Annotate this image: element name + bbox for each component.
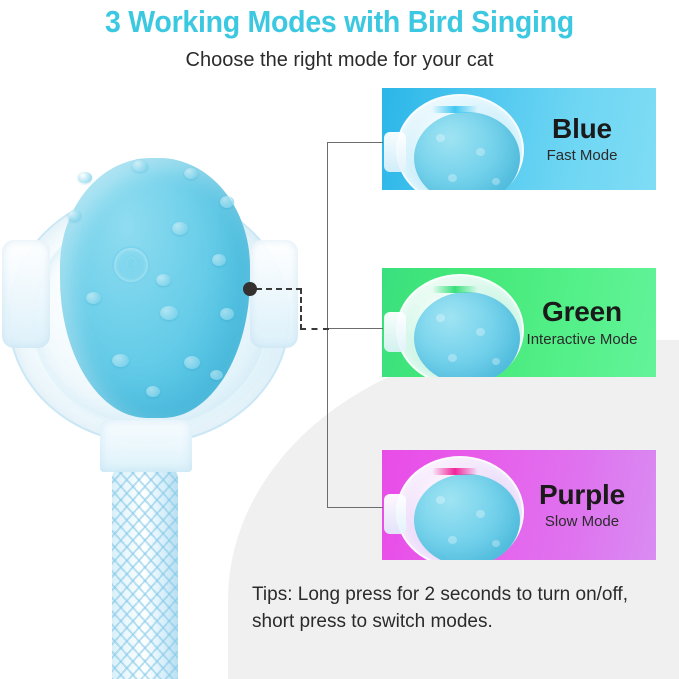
mode-card-purple[interactable]: Purple Slow Mode bbox=[382, 450, 656, 560]
ball-bump bbox=[132, 160, 148, 172]
ball-bump bbox=[448, 354, 457, 362]
mode-title: Blue bbox=[552, 114, 612, 143]
card-led-indicator bbox=[432, 106, 478, 113]
mode-subtitle: Slow Mode bbox=[545, 509, 619, 530]
ball-bump bbox=[86, 292, 101, 304]
ball-bump bbox=[212, 254, 226, 266]
card-led-indicator bbox=[432, 468, 478, 475]
callout-lead-line-purple bbox=[327, 507, 383, 508]
ball-bump bbox=[78, 172, 92, 183]
page-subtitle: Choose the right mode for your cat bbox=[0, 40, 679, 72]
product-logo: ⓖ bbox=[112, 246, 150, 284]
card-led-indicator bbox=[432, 286, 478, 293]
ball-bump bbox=[476, 328, 485, 336]
product-shell-wing-left bbox=[2, 240, 50, 348]
card-shell-wing bbox=[384, 494, 406, 534]
mode-card-green-text: Green Interactive Mode bbox=[508, 268, 656, 377]
tips-line-2: short press to switch modes. bbox=[252, 609, 662, 636]
ball-bump bbox=[448, 174, 457, 182]
ball-bump bbox=[436, 496, 445, 504]
mode-card-blue-photo bbox=[390, 92, 522, 190]
mode-title: Purple bbox=[539, 480, 625, 509]
callout-lead-line-green bbox=[327, 328, 383, 329]
ball-bump bbox=[448, 536, 457, 544]
ball-bump bbox=[172, 222, 188, 235]
callout-lead-line-blue bbox=[327, 142, 383, 143]
ball-bump bbox=[476, 148, 485, 156]
ball-bump bbox=[220, 196, 234, 208]
card-ball-shell bbox=[396, 456, 524, 560]
card-shell-wing bbox=[384, 312, 406, 352]
ball-bump bbox=[112, 354, 129, 367]
product-mesh-handle bbox=[112, 468, 178, 679]
page-title: 3 Working Modes with Bird Singing bbox=[27, 0, 652, 40]
card-inner-ball bbox=[414, 112, 520, 190]
ball-bump bbox=[476, 510, 485, 518]
mode-card-green[interactable]: Green Interactive Mode bbox=[382, 268, 656, 377]
ball-bump bbox=[220, 308, 234, 320]
infographic-page: 3 Working Modes with Bird Singing Choose… bbox=[0, 0, 679, 679]
header: 3 Working Modes with Bird Singing Choose… bbox=[0, 0, 679, 72]
product-neck bbox=[100, 420, 192, 472]
mode-subtitle: Fast Mode bbox=[547, 143, 618, 164]
ball-bump bbox=[146, 386, 160, 397]
ball-bump bbox=[184, 356, 200, 369]
card-shell-wing bbox=[384, 132, 406, 172]
ball-bump bbox=[68, 210, 81, 221]
card-ball-shell bbox=[396, 274, 524, 377]
product-silicone-ball: ⓖ bbox=[60, 158, 250, 418]
mode-card-purple-text: Purple Slow Mode bbox=[508, 450, 656, 560]
tips-line-1: Tips: Long press for 2 seconds to turn o… bbox=[252, 582, 662, 609]
card-ball-shell bbox=[396, 94, 524, 190]
ball-bump bbox=[492, 358, 500, 365]
card-inner-ball bbox=[414, 292, 520, 377]
mode-title: Green bbox=[542, 297, 622, 326]
product-shell-wing-right bbox=[250, 240, 298, 348]
ball-bump bbox=[492, 178, 500, 185]
ball-bump bbox=[436, 314, 445, 322]
mode-subtitle: Interactive Mode bbox=[527, 327, 638, 348]
mode-card-blue[interactable]: Blue Fast Mode bbox=[382, 88, 656, 190]
callout-dashed-segment bbox=[256, 288, 302, 290]
callout-bracket-line bbox=[327, 142, 328, 508]
ball-bump bbox=[492, 540, 500, 547]
mode-card-blue-text: Blue Fast Mode bbox=[508, 88, 656, 190]
callout-dashed-segment bbox=[300, 328, 329, 330]
ball-bump bbox=[184, 168, 198, 179]
ball-bump bbox=[210, 370, 223, 380]
button-anchor-dot bbox=[243, 282, 257, 296]
ball-bump bbox=[160, 306, 178, 320]
mode-card-green-photo bbox=[390, 272, 522, 374]
tips-text: Tips: Long press for 2 seconds to turn o… bbox=[252, 582, 662, 636]
mode-card-purple-photo bbox=[390, 454, 522, 556]
card-inner-ball bbox=[414, 474, 520, 560]
callout-dashed-segment bbox=[300, 288, 302, 330]
ball-bump bbox=[436, 134, 445, 142]
ball-bump bbox=[156, 274, 171, 286]
